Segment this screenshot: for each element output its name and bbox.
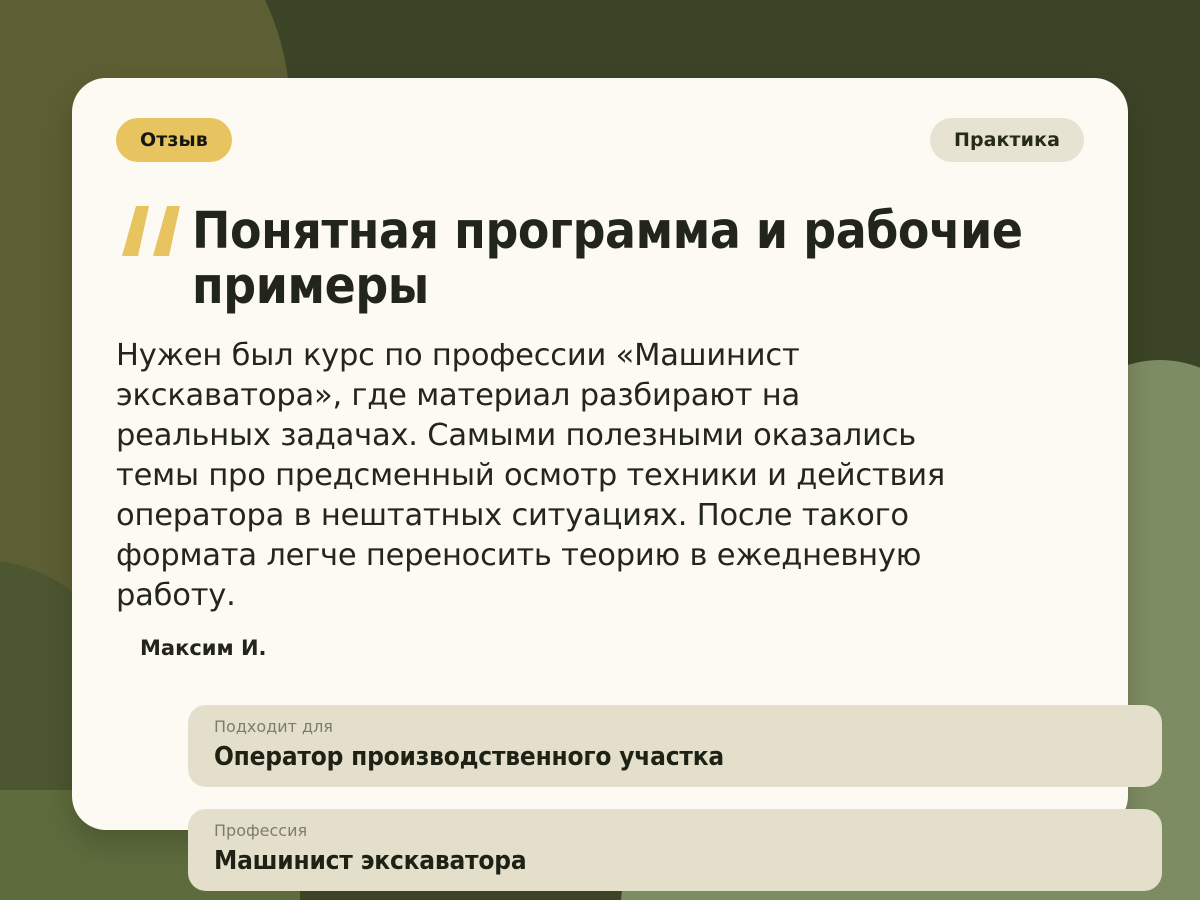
info-card-suitable-for[interactable]: Подходит для Оператор производственного … — [188, 705, 1162, 787]
badge-topic[interactable]: Практика — [930, 118, 1084, 162]
review-author-name: Максим И. — [140, 636, 1084, 660]
info-card-value: Оператор производственного участка — [214, 742, 1136, 772]
info-card-label: Профессия — [214, 821, 1136, 840]
testimonial-slide: Отзыв Практика Понятная программа и рабо… — [0, 0, 1200, 900]
review-body-text: Нужен был курс по профессии «Машинист эк… — [116, 336, 946, 616]
quote-heading-row: Понятная программа и рабочие примеры — [116, 204, 1084, 314]
info-card-value: Машинист экскаватора — [214, 846, 1136, 876]
page-title: Понятная программа и рабочие примеры — [192, 204, 1084, 314]
badge-row: Отзыв Практика — [116, 118, 1084, 162]
info-card-profession[interactable]: Профессия Машинист экскаватора — [188, 809, 1162, 891]
badge-review-type[interactable]: Отзыв — [116, 118, 232, 162]
testimonial-card: Отзыв Практика Понятная программа и рабо… — [72, 78, 1128, 830]
quote-mark-icon — [116, 206, 182, 260]
info-card-label: Подходит для — [214, 717, 1136, 736]
